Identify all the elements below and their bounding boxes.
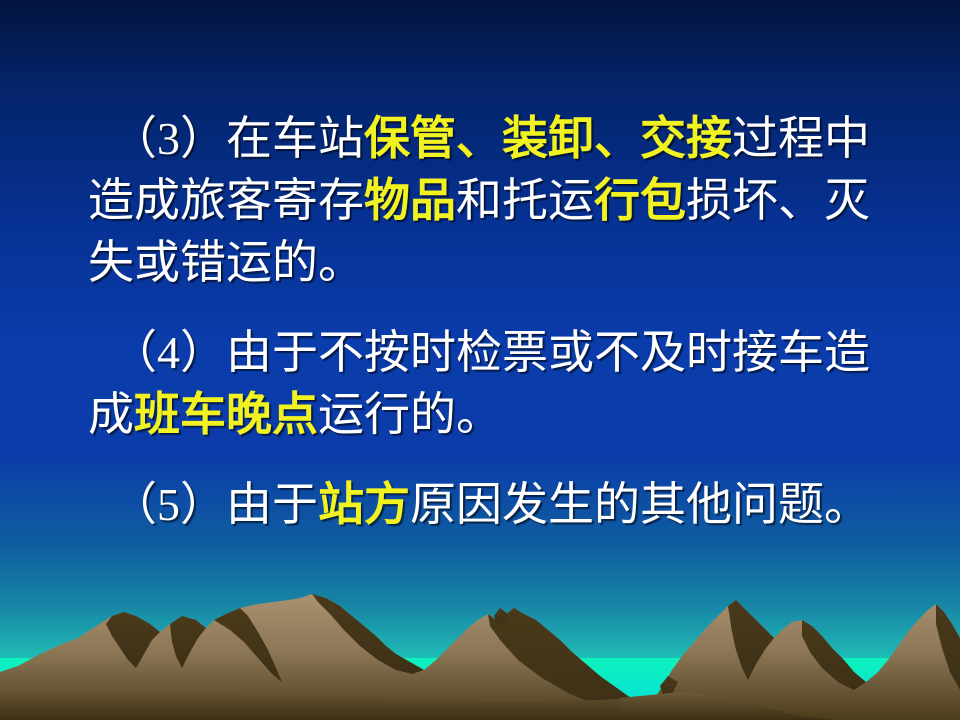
p3-highlight-0: 保管、装卸、交接 — [364, 113, 732, 164]
paragraph-5: （5）由于站方原因发生的其他问题。 — [0, 474, 960, 536]
mountain-range-graphic — [0, 520, 960, 720]
p5-run-2: 原因发生的其他问题。 — [410, 479, 870, 530]
presentation-slide: （3）在车站保管、装卸、交接过程中造成旅客寄存物品和托运行包损坏、灭失或错运的。… — [0, 0, 960, 720]
p5-highlight-0: 站方 — [318, 479, 410, 530]
p5-run-0: （5）由于 — [88, 479, 318, 530]
slide-body-text: （3）在车站保管、装卸、交接过程中造成旅客寄存物品和托运行包损坏、灭失或错运的。… — [0, 0, 960, 536]
p4-highlight-0: 班车晚点 — [134, 389, 318, 440]
p3-highlight-2: 行包 — [594, 175, 686, 226]
paragraph-4: （4）由于不按时检票或不及时接车造成班车晚点运行的。 — [0, 322, 960, 446]
p3-run-4: 和托运 — [456, 175, 594, 226]
p3-highlight-1: 物品 — [364, 175, 456, 226]
p3-run-0: （3）在车站 — [88, 113, 364, 164]
paragraph-3: （3）在车站保管、装卸、交接过程中造成旅客寄存物品和托运行包损坏、灭失或错运的。 — [0, 108, 960, 294]
p4-run-2: 运行的。 — [318, 389, 502, 440]
